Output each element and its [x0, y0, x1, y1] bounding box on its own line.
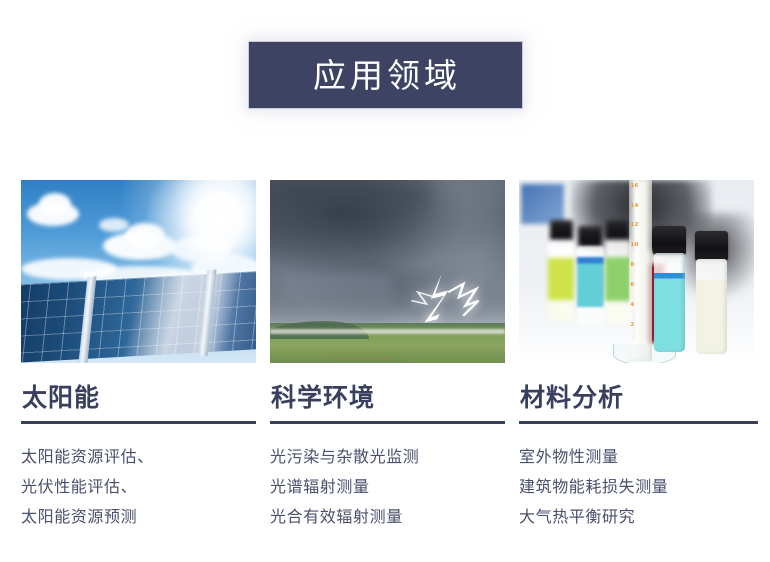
sun-glare [140, 180, 256, 276]
column-list-materials: 室外物性测量 建筑物能耗损失测量 大气热平衡研究 [519, 442, 754, 532]
list-item: 光谱辐射测量 [270, 472, 505, 502]
lab-vials-photo[interactable]: 16 14 12 10 8 6 4 2 [519, 180, 754, 363]
panel-reflection [21, 271, 256, 363]
title-divider [519, 421, 758, 424]
cylinder-tick-label: 6 [630, 283, 634, 289]
background-equipment [521, 184, 563, 224]
column-environment: 科学环境 光污染与杂散光监测 光谱辐射测量 光合有效辐射测量 [270, 180, 505, 532]
solar-panel-photo[interactable] [21, 180, 256, 363]
cylinder-tick-label: 10 [630, 243, 638, 249]
list-item: 室外物性测量 [519, 442, 754, 472]
cloud-shape [39, 193, 71, 215]
cylinder-tick-label: 4 [630, 303, 634, 309]
list-item: 光伏性能评估、 [21, 472, 256, 502]
column-title-solar: 太阳能 [21, 385, 256, 410]
list-item: 光合有效辐射测量 [270, 502, 505, 532]
application-columns: 太阳能 太阳能资源评估、 光伏性能评估、 太阳能资源预测 科学环境 [21, 180, 755, 532]
page-title-banner: 应用领域 [249, 42, 522, 108]
vial-cap [653, 226, 686, 255]
storm-lightning-photo[interactable] [270, 180, 505, 363]
column-title-materials: 材料分析 [519, 385, 754, 410]
column-materials: 16 14 12 10 8 6 4 2 材料分析 室外物性测量 建筑物能耗损失测… [519, 180, 754, 532]
cylinder-tick-label: 2 [630, 323, 634, 329]
vial-cap [550, 220, 574, 242]
vial-teal [654, 253, 685, 352]
cylinder-tick-label: 16 [630, 184, 638, 190]
list-item: 太阳能资源预测 [21, 502, 256, 532]
vial-cap [606, 220, 630, 242]
cylinder-tick-label: 12 [630, 223, 638, 229]
vial-yellow-green [548, 240, 574, 321]
cylinder-tick-label: 14 [630, 204, 638, 210]
graduated-cylinder: 16 14 12 10 8 6 4 2 [629, 180, 651, 361]
horizon-buildings [270, 329, 505, 334]
vial-cap [695, 231, 728, 260]
list-item: 太阳能资源评估、 [21, 442, 256, 472]
page-title: 应用领域 [309, 59, 461, 92]
list-item: 光污染与杂散光监测 [270, 442, 505, 472]
title-divider [270, 421, 505, 424]
cylinder-tick-label: 8 [630, 263, 634, 269]
bare-soil-patch [331, 358, 392, 360]
list-item: 建筑物能耗损失测量 [519, 472, 754, 502]
vial-white [696, 259, 727, 354]
vial-green [605, 240, 631, 324]
crop-field [406, 359, 500, 363]
list-item: 大气热平衡研究 [519, 502, 754, 532]
page-header: 应用领域 [0, 42, 770, 108]
column-title-environment: 科学环境 [270, 385, 505, 410]
vial-cyan [577, 246, 604, 327]
vial-cap [578, 226, 603, 248]
column-solar: 太阳能 太阳能资源评估、 光伏性能评估、 太阳能资源预测 [21, 180, 256, 532]
title-divider [21, 421, 256, 424]
column-list-solar: 太阳能资源评估、 光伏性能评估、 太阳能资源预测 [21, 442, 256, 532]
column-list-environment: 光污染与杂散光监测 光谱辐射测量 光合有效辐射测量 [270, 442, 505, 532]
cloud-shape [99, 218, 129, 232]
solar-panel-array [21, 271, 256, 363]
